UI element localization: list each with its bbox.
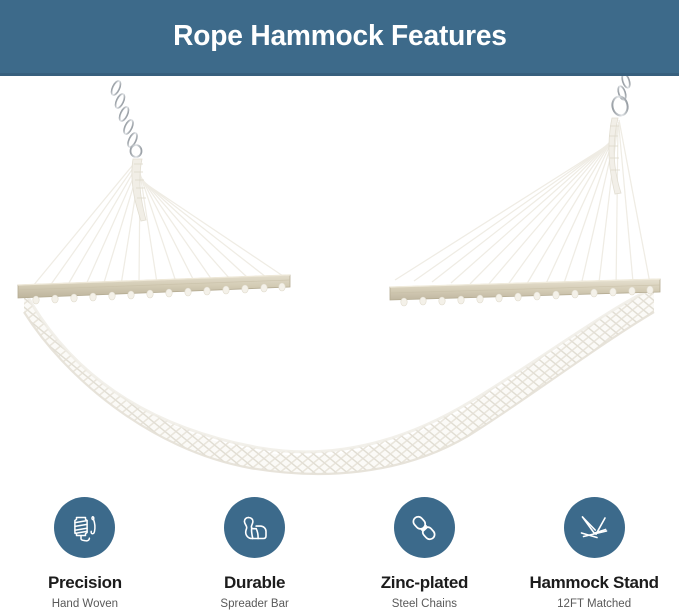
chain-links-icon xyxy=(406,510,442,546)
flexed-bicep-icon xyxy=(237,510,273,546)
left-spreader-bar xyxy=(18,275,290,298)
feature-title: Durable xyxy=(224,574,285,593)
feature-icon-badge xyxy=(394,497,455,558)
product-feature-infographic: Rope Hammock Features xyxy=(0,0,679,615)
feature-item-precision: Precision Hand Woven xyxy=(0,482,169,610)
right-spreader-bar xyxy=(390,279,660,300)
feature-subtitle: Spreader Bar xyxy=(220,598,288,610)
left-rope-fan xyxy=(28,160,283,292)
left-chain xyxy=(110,80,142,157)
feature-item-zinc-plated: Zinc-plated Steel Chains xyxy=(340,482,509,610)
feature-title: Precision xyxy=(48,574,122,593)
feature-subtitle: 12FT Matched xyxy=(557,598,631,610)
feature-icon-badge xyxy=(54,497,115,558)
right-chain xyxy=(611,76,632,117)
feature-item-hammock-stand: Hammock Stand 12FT Matched xyxy=(510,482,679,610)
hammock-stand-icon xyxy=(575,509,613,547)
header-banner: Rope Hammock Features xyxy=(0,0,679,73)
feature-icon-badge xyxy=(224,497,285,558)
feature-title: Hammock Stand xyxy=(529,574,658,593)
feature-icon-badge xyxy=(564,497,625,558)
thread-spool-needle-icon xyxy=(67,510,103,546)
left-rope-bundle xyxy=(132,159,146,221)
page-title: Rope Hammock Features xyxy=(173,22,507,51)
feature-item-durable: Durable Spreader Bar xyxy=(170,482,339,610)
rope-hammock-illustration xyxy=(0,76,679,482)
hero-image xyxy=(0,76,679,482)
feature-subtitle: Hand Woven xyxy=(52,598,118,610)
hammock-net-body xyxy=(0,266,679,482)
feature-title: Zinc-plated xyxy=(381,574,468,593)
feature-subtitle: Steel Chains xyxy=(392,598,457,610)
feature-row: Precision Hand Woven Durable Spreader Ba… xyxy=(0,482,679,615)
